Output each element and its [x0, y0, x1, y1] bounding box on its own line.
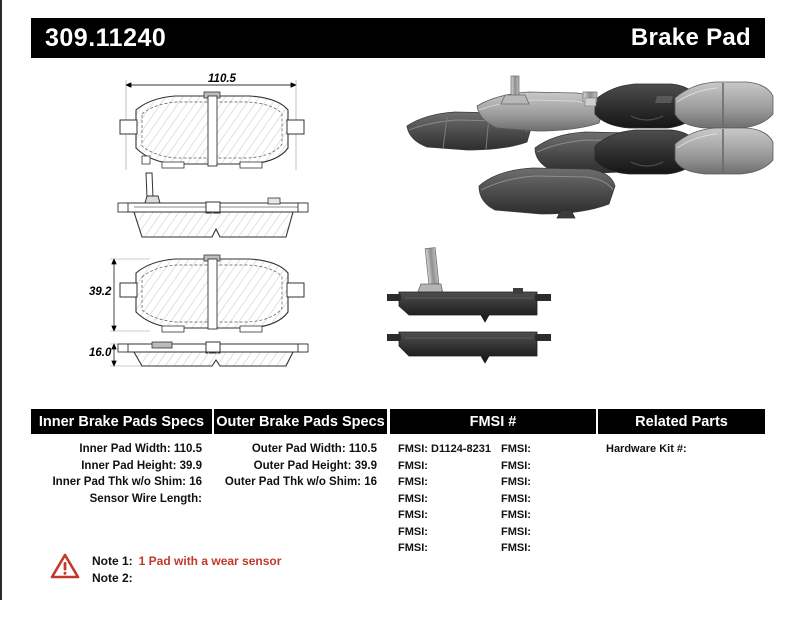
fmsi-row: FMSI:: [390, 540, 493, 557]
drawing-front-face-view: [110, 255, 304, 332]
fmsi-column: FMSI: D1124-8231 FMSI: FMSI: FMSI: FMSI:…: [390, 441, 596, 557]
hardware-kit-row: Hardware Kit #:: [598, 441, 765, 458]
table-header-inner-specs: Inner Brake Pads Specs: [31, 409, 212, 434]
drawing-edge-view-with-sensor: [118, 173, 308, 237]
dimension-thickness-label: 16.0: [89, 347, 111, 359]
inner-pad-thk-row: Inner Pad Thk w/o Shim: 16: [31, 474, 212, 491]
fmsi-subcolumn-left: FMSI: D1124-8231 FMSI: FMSI: FMSI: FMSI:…: [390, 441, 493, 557]
note-2: Note 2:: [92, 570, 281, 587]
dimension-width-label: 110.5: [208, 73, 236, 85]
spec-sheet-page: 309.11240 Brake Pad: [0, 0, 800, 619]
fmsi-row: FMSI:: [390, 474, 493, 491]
technical-drawings: 110.5 39.2 16.0: [90, 70, 390, 380]
inner-specs-column: Inner Pad Width: 110.5 Inner Pad Height:…: [31, 441, 212, 557]
table-header-row: Inner Brake Pads Specs Outer Brake Pads …: [31, 409, 765, 434]
header-bar: 309.11240 Brake Pad: [31, 18, 765, 58]
outer-pad-width-row: Outer Pad Width: 110.5: [214, 441, 387, 458]
fmsi-row: FMSI:: [493, 540, 596, 557]
specs-table: Inner Brake Pads Specs Outer Brake Pads …: [31, 409, 765, 557]
photo-pad-edge-pair: [387, 248, 551, 363]
fmsi-row: FMSI:: [493, 524, 596, 541]
fmsi-row: FMSI: D1124-8231: [390, 441, 493, 458]
note-1: Note 1:1 Pad with a wear sensor: [92, 553, 281, 570]
page-left-border: [0, 0, 2, 600]
drawing-top-face-view: [120, 80, 304, 170]
fmsi-row: FMSI:: [390, 524, 493, 541]
inner-pad-height-row: Inner Pad Height: 39.9: [31, 458, 212, 475]
related-parts-column: Hardware Kit #:: [598, 441, 765, 557]
outer-pad-height-row: Outer Pad Height: 39.9: [214, 458, 387, 475]
fmsi-row: FMSI:: [493, 491, 596, 508]
note-1-value: 1 Pad with a wear sensor: [139, 554, 282, 568]
fmsi-row: FMSI:: [390, 491, 493, 508]
note-lines: Note 1:1 Pad with a wear sensor Note 2:: [92, 552, 281, 587]
inner-pad-width-row: Inner Pad Width: 110.5: [31, 441, 212, 458]
table-header-outer-specs: Outer Brake Pads Specs: [214, 409, 387, 434]
fmsi-subcolumn-right: FMSI: FMSI: FMSI: FMSI: FMSI: FMSI: FMSI…: [493, 441, 596, 557]
table-header-fmsi: FMSI #: [390, 409, 596, 434]
photo-pad-set-pair: [583, 82, 773, 174]
dimension-height-label: 39.2: [89, 286, 111, 298]
part-number: 309.11240: [45, 24, 166, 53]
warning-triangle-icon: [50, 552, 80, 580]
table-body: Inner Pad Width: 110.5 Inner Pad Height:…: [31, 441, 765, 557]
fmsi-row: FMSI:: [390, 458, 493, 475]
drawing-thickness-view: [110, 342, 308, 366]
fmsi-row: FMSI:: [493, 441, 596, 458]
outer-specs-column: Outer Pad Width: 110.5 Outer Pad Height:…: [214, 441, 387, 557]
drawings-svg: [90, 70, 390, 380]
table-header-related-parts: Related Parts: [598, 409, 765, 434]
note-1-label: Note 1:: [92, 554, 133, 568]
outer-pad-thk-row: Outer Pad Thk w/o Shim: 16: [214, 474, 387, 491]
fmsi-row: FMSI:: [493, 474, 596, 491]
page-title: Brake Pad: [631, 24, 751, 52]
fmsi-row: FMSI:: [390, 507, 493, 524]
sensor-wire-length-row: Sensor Wire Length:: [31, 491, 212, 508]
photos-svg: [385, 70, 785, 380]
fmsi-row: FMSI:: [493, 507, 596, 524]
notes-section: Note 1:1 Pad with a wear sensor Note 2:: [50, 552, 281, 587]
note-2-label: Note 2:: [92, 571, 133, 585]
fmsi-row: FMSI:: [493, 458, 596, 475]
product-photos: [385, 70, 785, 380]
